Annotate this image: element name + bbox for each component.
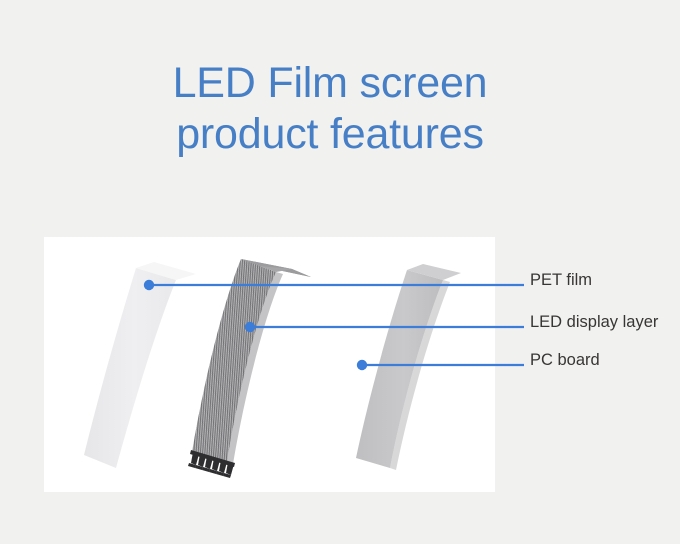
callout-label-pet-film: PET film: [530, 272, 592, 289]
slide-canvas: LED Film screen product features: [0, 0, 680, 544]
callout-label-led-display-layer: LED display layer: [530, 314, 658, 331]
diagram-card: [44, 237, 495, 492]
page-title-line-1: LED Film screen: [0, 58, 660, 109]
page-title-line-2: product features: [0, 109, 660, 160]
callout-label-pc-board: PC board: [530, 352, 600, 369]
page-title: LED Film screen product features: [0, 58, 660, 159]
